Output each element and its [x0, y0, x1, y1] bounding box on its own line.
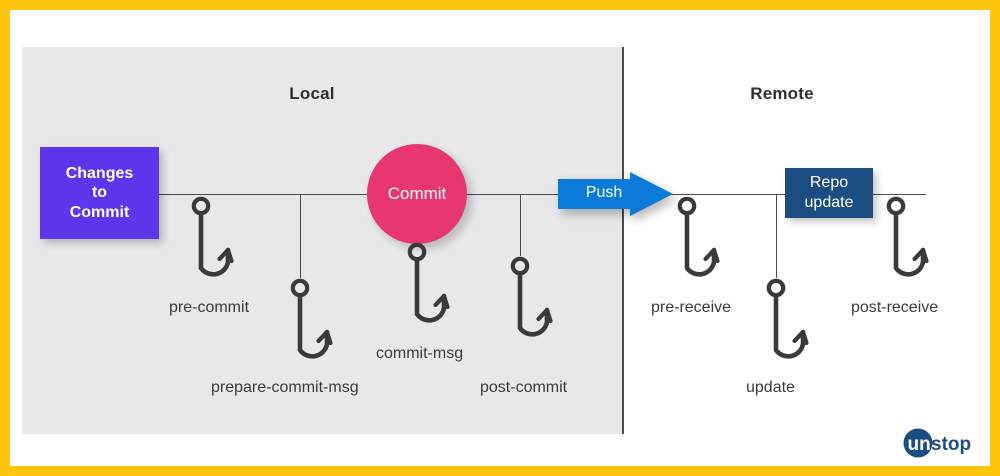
hook-label-post-receive: post-receive: [851, 299, 938, 317]
changes-to-commit-line-1: Changes: [66, 164, 134, 184]
changes-to-commit-line-3: Commit: [70, 203, 130, 223]
changes-to-commit-box: Changes to Commit: [40, 147, 159, 239]
local-timeline-right: [454, 194, 564, 196]
hook-riser-prepare-commit-msg: [300, 194, 301, 278]
unstop-logo-word-text: stop: [931, 434, 971, 455]
local-remote-divider: [622, 47, 624, 434]
hook-icon-post-receive: [883, 196, 929, 296]
push-arrow-icon: [558, 172, 673, 216]
local-section-title: Local: [232, 84, 392, 104]
changes-to-commit-line-2: to: [92, 183, 107, 203]
local-timeline-left: [158, 194, 398, 196]
repo-update-line-1: Repo: [810, 173, 848, 193]
hook-icon-post-commit: [507, 256, 553, 356]
hook-label-post-commit: post-commit: [480, 379, 567, 397]
hook-icon-pre-commit: [188, 196, 234, 296]
diagram-canvas: Local Remote Changes to Commit Commit Pu…: [10, 10, 990, 466]
unstop-logo: un stop: [903, 428, 991, 458]
remote-section-title: Remote: [702, 84, 862, 104]
hook-label-pre-receive: pre-receive: [651, 299, 731, 317]
hook-icon-commit-msg: [404, 242, 450, 342]
commit-node-circle: Commit: [367, 144, 467, 244]
hook-label-update: update: [746, 379, 795, 397]
hook-label-pre-commit: pre-commit: [169, 299, 249, 317]
commit-node-label: Commit: [388, 184, 447, 204]
hook-riser-post-commit: [520, 194, 521, 256]
hook-icon-prepare-commit-msg: [287, 278, 333, 378]
hook-label-prepare-commit-msg: prepare-commit-msg: [211, 379, 359, 397]
hook-icon-update: [763, 278, 809, 378]
hook-riser-update: [776, 194, 777, 278]
unstop-logo-mark: un stop: [903, 428, 991, 458]
repo-update-box: Repo update: [785, 168, 873, 218]
hook-icon-pre-receive: [674, 196, 720, 296]
remote-timeline-right: [872, 194, 926, 196]
hook-label-commit-msg: commit-msg: [376, 345, 463, 363]
unstop-logo-mark-text: un: [908, 434, 931, 455]
diagram-canvas-frame: Local Remote Changes to Commit Commit Pu…: [0, 0, 1000, 476]
remote-timeline-left: [665, 194, 790, 196]
repo-update-line-2: update: [805, 193, 854, 213]
